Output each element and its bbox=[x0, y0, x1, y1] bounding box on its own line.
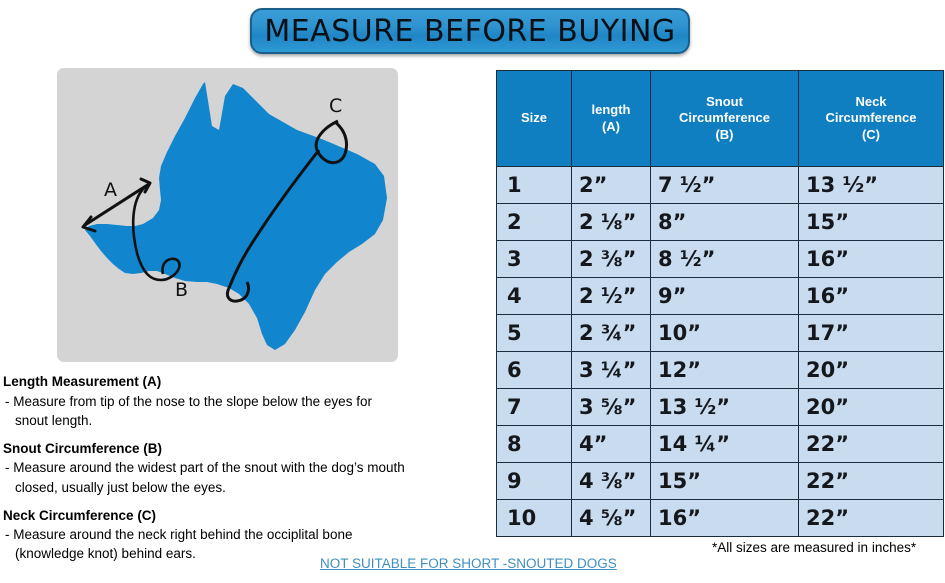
instruction-text: - Measure around the widest part of the … bbox=[3, 458, 483, 496]
header-line-2: (A) bbox=[575, 119, 647, 135]
cell-size: 6 bbox=[497, 352, 572, 389]
marker-b-label: B bbox=[175, 279, 188, 301]
cell-snout: 8 ½” bbox=[651, 241, 799, 278]
cell-length: 2” bbox=[572, 167, 651, 204]
cell-length: 4 ⅝” bbox=[572, 500, 651, 537]
cell-size: 4 bbox=[497, 278, 572, 315]
instruction-line-1: - Measure from tip of the nose to the sl… bbox=[5, 394, 372, 409]
instruction-line-2: closed, usually just below the eyes. bbox=[5, 478, 483, 497]
size-chart-table: Size length (A) Snout Circumference (B) … bbox=[496, 70, 944, 537]
inches-note: *All sizes are measured in inches* bbox=[712, 540, 916, 555]
instruction-line-2: snout length. bbox=[5, 411, 483, 430]
column-header-length: length (A) bbox=[572, 71, 651, 167]
cell-size: 2 bbox=[497, 204, 572, 241]
table-header-row: Size length (A) Snout Circumference (B) … bbox=[497, 71, 944, 167]
cell-neck: 20” bbox=[799, 352, 944, 389]
table-header: Size length (A) Snout Circumference (B) … bbox=[497, 71, 944, 167]
cell-size: 7 bbox=[497, 389, 572, 426]
instruction-neck: Neck Circumference (C) - Measure around … bbox=[3, 506, 483, 564]
cell-length: 2 ⅛” bbox=[572, 204, 651, 241]
cell-neck: 22” bbox=[799, 500, 944, 537]
header-line-1: Snout bbox=[654, 94, 795, 110]
cell-snout: 7 ½” bbox=[651, 167, 799, 204]
dog-head-diagram-panel: A B C bbox=[57, 68, 398, 362]
header-line-1: Neck bbox=[802, 94, 940, 110]
table-row: 84”14 ¼”22” bbox=[497, 426, 944, 463]
table-row: 12”7 ½”13 ½” bbox=[497, 167, 944, 204]
cell-snout: 8” bbox=[651, 204, 799, 241]
table-body: 12”7 ½”13 ½”22 ⅛”8”15”32 ⅜”8 ½”16”42 ½”9… bbox=[497, 167, 944, 537]
header-line-3: (C) bbox=[802, 127, 940, 143]
cell-snout: 10” bbox=[651, 315, 799, 352]
cell-neck: 20” bbox=[799, 389, 944, 426]
cell-length: 2 ½” bbox=[572, 278, 651, 315]
table-row: 22 ⅛”8”15” bbox=[497, 204, 944, 241]
instruction-heading: Length Measurement (A) bbox=[3, 372, 483, 392]
cell-snout: 9” bbox=[651, 278, 799, 315]
instruction-heading: Neck Circumference (C) bbox=[3, 506, 483, 526]
cell-snout: 14 ¼” bbox=[651, 426, 799, 463]
column-header-snout-circumference: Snout Circumference (B) bbox=[651, 71, 799, 167]
cell-size: 8 bbox=[497, 426, 572, 463]
table-row: 42 ½”9”16” bbox=[497, 278, 944, 315]
cell-length: 3 ¼” bbox=[572, 352, 651, 389]
cell-size: 3 bbox=[497, 241, 572, 278]
page-title: MEASURE BEFORE BUYING bbox=[264, 14, 675, 49]
cell-length: 3 ⅝” bbox=[572, 389, 651, 426]
cell-neck: 16” bbox=[799, 241, 944, 278]
header-line-3: (B) bbox=[654, 127, 795, 143]
cell-size: 10 bbox=[497, 500, 572, 537]
header-line-2: Circumference bbox=[802, 110, 940, 126]
cell-neck: 22” bbox=[799, 463, 944, 500]
cell-size: 1 bbox=[497, 167, 572, 204]
cell-length: 4 ⅜” bbox=[572, 463, 651, 500]
cell-neck: 22” bbox=[799, 426, 944, 463]
header-line-1: Size bbox=[500, 110, 568, 126]
instruction-line-1: - Measure around the widest part of the … bbox=[5, 460, 405, 475]
marker-c-label: C bbox=[329, 95, 342, 117]
not-suitable-note: NOT SUITABLE FOR SHORT -SNOUTED DOGS bbox=[320, 556, 617, 571]
cell-size: 9 bbox=[497, 463, 572, 500]
cell-neck: 13 ½” bbox=[799, 167, 944, 204]
cell-snout: 13 ½” bbox=[651, 389, 799, 426]
instruction-heading: Snout Circumference (B) bbox=[3, 439, 483, 459]
cell-snout: 12” bbox=[651, 352, 799, 389]
cell-neck: 16” bbox=[799, 278, 944, 315]
table-row: 52 ¾”10”17” bbox=[497, 315, 944, 352]
cell-length: 2 ¾” bbox=[572, 315, 651, 352]
marker-a-label: A bbox=[104, 179, 117, 201]
header-line-2: Circumference bbox=[654, 110, 795, 126]
cell-snout: 15” bbox=[651, 463, 799, 500]
header-line-1: length bbox=[575, 102, 647, 118]
cell-length: 2 ⅜” bbox=[572, 241, 651, 278]
instructions-block: Length Measurement (A) - Measure from ti… bbox=[3, 372, 483, 573]
cell-neck: 17” bbox=[799, 315, 944, 352]
cell-size: 5 bbox=[497, 315, 572, 352]
cell-neck: 15” bbox=[799, 204, 944, 241]
table-row: 73 ⅝”13 ½”20” bbox=[497, 389, 944, 426]
table-row: 32 ⅜”8 ½”16” bbox=[497, 241, 944, 278]
table-row: 94 ⅜”15”22” bbox=[497, 463, 944, 500]
title-banner: MEASURE BEFORE BUYING bbox=[250, 8, 690, 54]
instruction-text: - Measure from tip of the nose to the sl… bbox=[3, 392, 483, 430]
instruction-snout: Snout Circumference (B) - Measure around… bbox=[3, 439, 483, 497]
table-row: 63 ¼”12”20” bbox=[497, 352, 944, 389]
instruction-length: Length Measurement (A) - Measure from ti… bbox=[3, 372, 483, 430]
cell-length: 4” bbox=[572, 426, 651, 463]
instruction-line-1: - Measure around the neck right behind t… bbox=[5, 527, 352, 542]
column-header-neck-circumference: Neck Circumference (C) bbox=[799, 71, 944, 167]
column-header-size: Size bbox=[497, 71, 572, 167]
dog-head-illustration: A B C bbox=[57, 68, 398, 362]
dog-silhouette bbox=[85, 82, 387, 350]
cell-snout: 16” bbox=[651, 500, 799, 537]
table-row: 104 ⅝”16”22” bbox=[497, 500, 944, 537]
